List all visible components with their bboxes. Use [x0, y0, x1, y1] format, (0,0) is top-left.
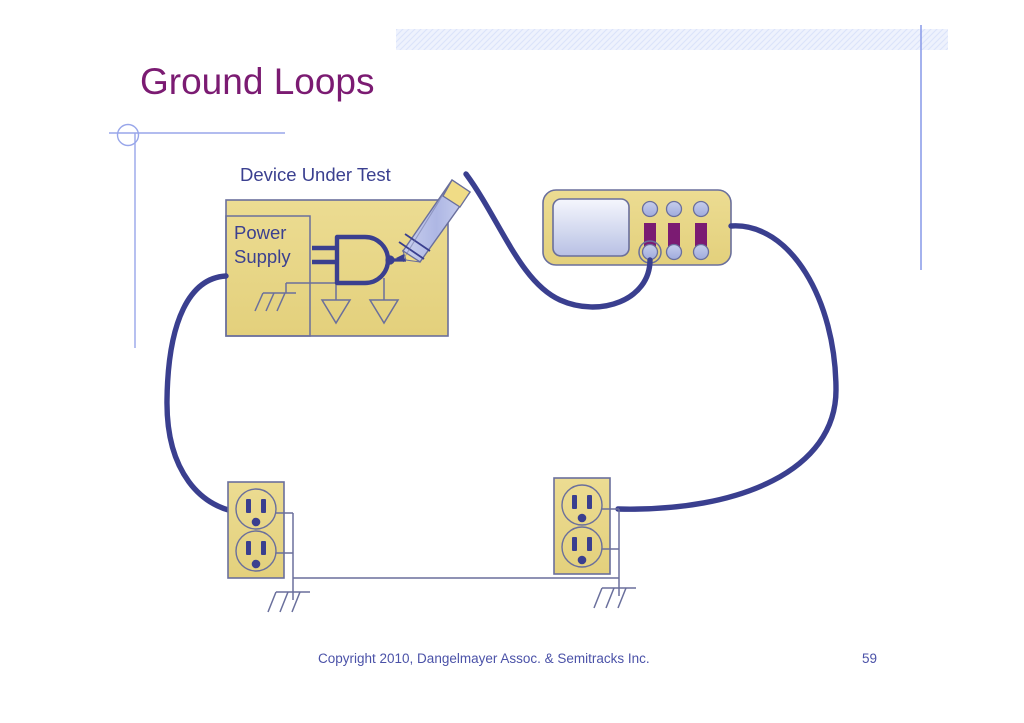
bnc-connector [643, 245, 658, 260]
power-supply-label-line2: Supply [234, 245, 291, 269]
knob-top-2 [667, 202, 682, 217]
ground-loop-diagram [0, 0, 1024, 723]
earth-ground-symbol-right-outlet [594, 588, 636, 608]
power-supply-label-line1: Power [234, 221, 291, 245]
earth-ground-symbol-left-outlet [268, 592, 310, 612]
page-title: Ground Loops [140, 62, 375, 103]
oscilloscope-top-knobs[interactable] [643, 202, 709, 217]
wall-outlet-left [228, 482, 310, 612]
oscilloscope [543, 190, 731, 265]
knob-bottom-2 [667, 245, 682, 260]
slide-number: 59 [862, 651, 877, 666]
slide-canvas: Ground Loops Device Under Test Power Sup… [0, 0, 1024, 723]
copyright-notice: Copyright 2010, Dangelmayer Assoc. & Sem… [318, 651, 650, 666]
header-decor-band [396, 29, 948, 50]
knob-top-3 [694, 202, 709, 217]
power-supply-label: Power Supply [234, 221, 291, 268]
knob-bottom-3 [694, 245, 709, 260]
knob-top-1 [643, 202, 658, 217]
oscilloscope-screen [553, 199, 629, 256]
wall-outlet-right [554, 478, 636, 608]
device-under-test-label: Device Under Test [240, 164, 391, 186]
